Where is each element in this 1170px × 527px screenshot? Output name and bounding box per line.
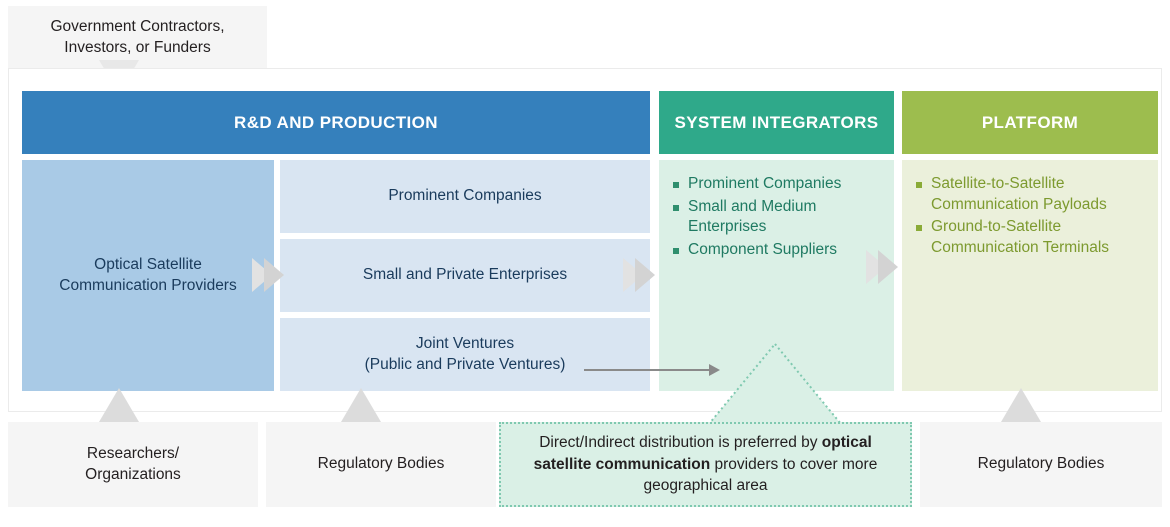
value-chain-card: R&D AND PRODUCTION Optical SatelliteComm… [8,68,1162,412]
rd-row-prominent-companies: Prominent Companies [280,160,650,233]
up-arrow-researchers-to-rd [99,388,139,422]
bottom-stakeholder-label: Regulatory Bodies [978,454,1105,475]
connector-line-joint-ventures [584,369,712,371]
chevron-system-integrators-to-platform [878,250,898,284]
bottom-stakeholder-label: Researchers/Organizations [85,444,181,486]
bottom-stakeholder-label: Regulatory Bodies [318,454,445,475]
callout-text-part-1: Direct/Indirect distribution is preferre… [539,434,822,451]
bottom-stakeholder-regulatory-right: Regulatory Bodies [920,422,1162,507]
chevron-rd-internal [264,258,284,292]
value-chain-diagram: Government Contractors,Investors, or Fun… [0,0,1170,527]
callout-box: Direct/Indirect distribution is preferre… [499,422,912,507]
rd-row-label: Small and Private Enterprises [363,265,567,286]
list-item: Component Suppliers [673,240,884,261]
column-body-rd: Optical SatelliteCommunication Providers… [22,160,650,391]
list-item: Ground-to-Satellite Communication Termin… [916,217,1148,258]
rd-row-list: Prominent Companies Small and Private En… [280,160,650,391]
chevron-rd-to-system-integrators [635,258,655,292]
rd-row-label: Prominent Companies [388,186,541,207]
up-arrow-regulatory-to-platform [1001,388,1041,422]
column-body-system-integrators: Prominent Companies Small and Medium Ent… [659,160,894,391]
rd-row-joint-ventures: Joint Ventures(Public and Private Ventur… [280,318,650,391]
top-stakeholder-label: Government Contractors,Investors, or Fun… [50,17,224,59]
column-body-platform: Satellite-to-Satellite Communication Pay… [902,160,1158,391]
rd-row-label: Joint Ventures(Public and Private Ventur… [365,334,566,376]
callout-text: Direct/Indirect distribution is preferre… [515,432,896,496]
list-item: Satellite-to-Satellite Communication Pay… [916,174,1148,215]
up-arrow-regulatory-to-rd [341,388,381,422]
platform-bullet-list: Satellite-to-Satellite Communication Pay… [902,160,1158,258]
column-header-rd: R&D AND PRODUCTION [22,91,650,154]
connector-arrowhead-joint-ventures [709,364,720,376]
rd-row-small-private-enterprises: Small and Private Enterprises [280,239,650,312]
optical-satellite-providers-label: Optical SatelliteCommunication Providers [59,255,236,297]
list-item: Prominent Companies [673,174,884,195]
list-item: Small and Medium Enterprises [673,197,884,238]
optical-satellite-providers-block: Optical SatelliteCommunication Providers [22,160,274,391]
bottom-stakeholder-researchers: Researchers/Organizations [8,422,258,507]
column-header-platform: PLATFORM [902,91,1158,154]
column-header-system-integrators: SYSTEM INTEGRATORS [659,91,894,154]
system-integrators-bullet-list: Prominent Companies Small and Medium Ent… [659,160,894,260]
bottom-stakeholder-regulatory-left: Regulatory Bodies [266,422,496,507]
